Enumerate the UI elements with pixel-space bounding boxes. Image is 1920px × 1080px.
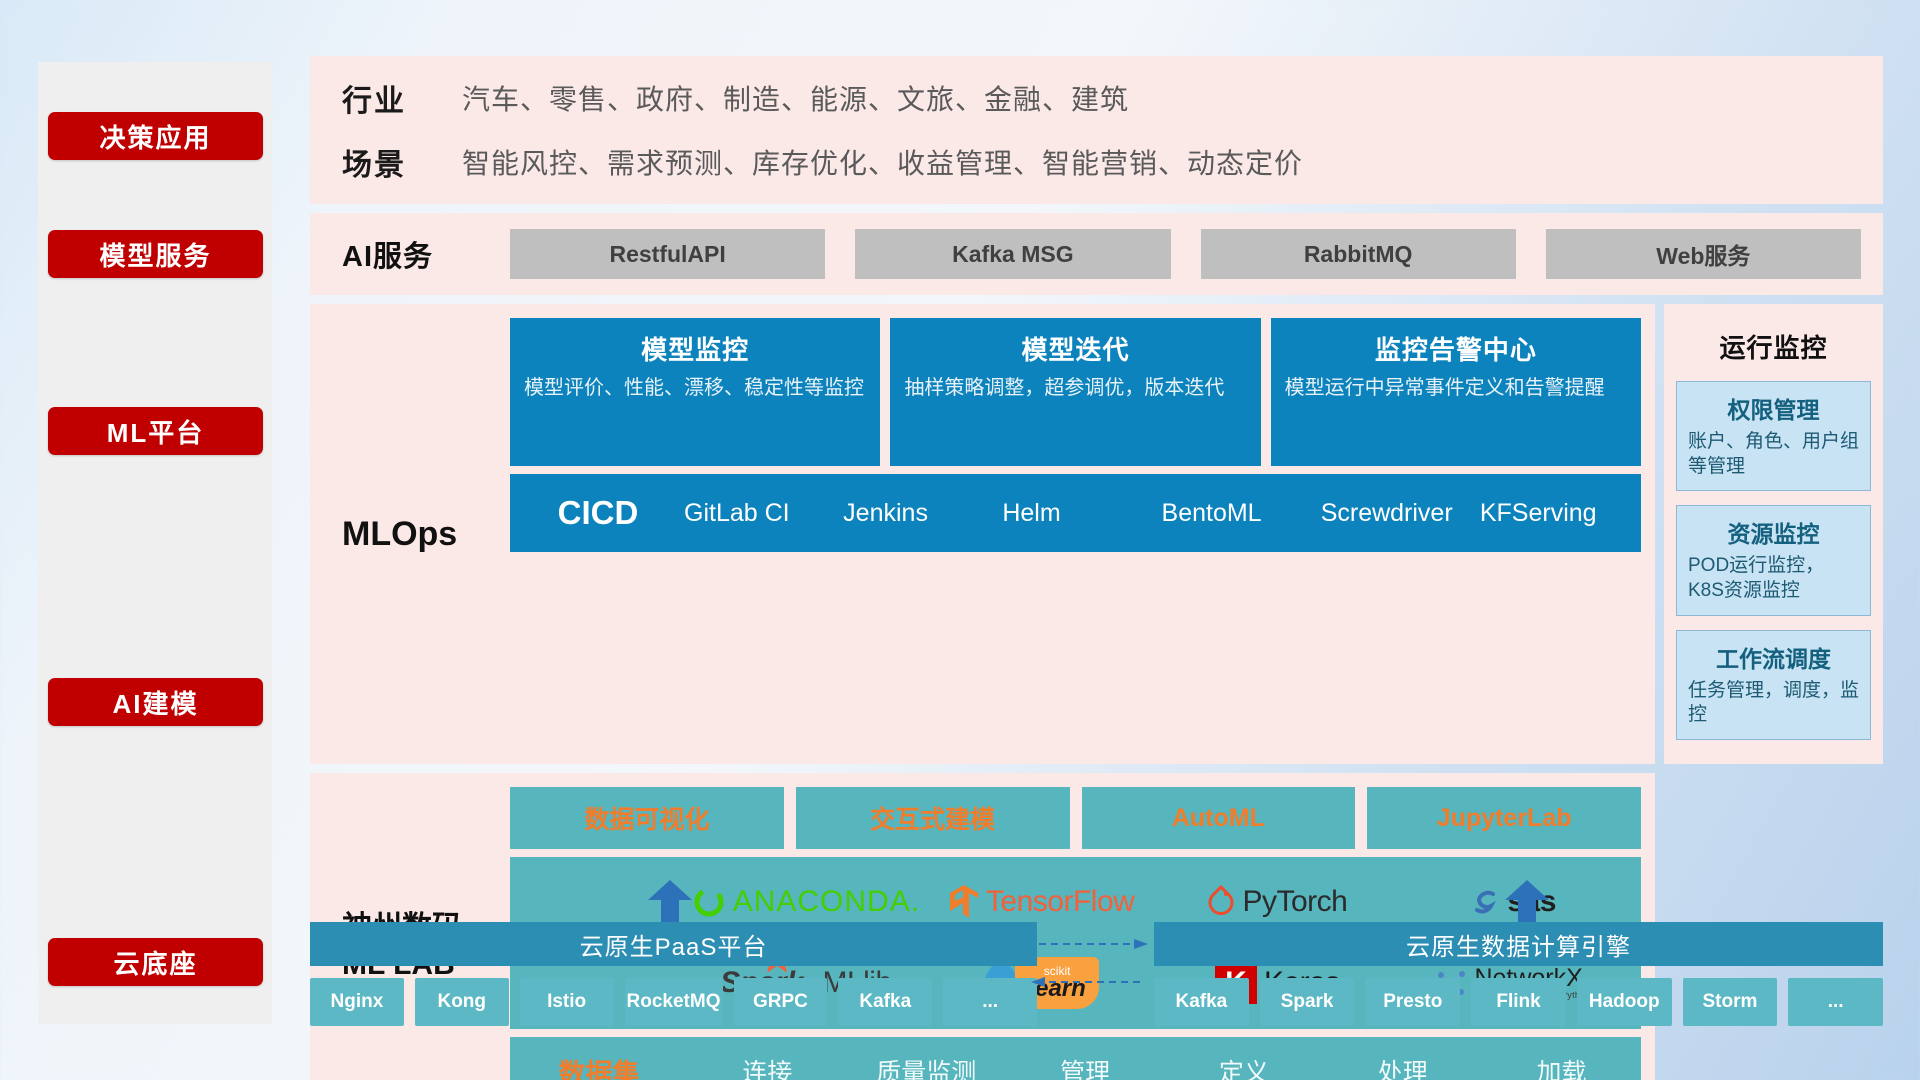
data-compute-engine-bar[interactable]: 云原生数据计算引擎 (1154, 922, 1883, 966)
industry-value: 汽车、零售、政府、制造、能源、文旅、金融、建筑 (462, 78, 1129, 118)
data-engine-chips: Kafka Spark Presto Flink Hadoop Storm ..… (1154, 978, 1883, 1026)
service-box-web[interactable]: Web服务 (1546, 229, 1861, 279)
dataset-title: 数据集 (510, 1052, 688, 1080)
chip-spark[interactable]: Spark (1260, 978, 1355, 1026)
dataset-item-process[interactable]: 处理 (1323, 1053, 1482, 1080)
industry-key: 行业 (342, 76, 462, 120)
card-title: 监控告警中心 (1285, 330, 1627, 367)
service-box-rabbitmq[interactable]: RabbitMQ (1201, 229, 1516, 279)
layer-label-ai-modeling[interactable]: AI建模 (48, 678, 263, 726)
service-box-restfulapi[interactable]: RestfulAPI (510, 229, 825, 279)
mlops-card-model-iteration[interactable]: 模型迭代 抽样策略调整，超参调优，版本迭代 (890, 318, 1260, 466)
chip-istio[interactable]: Istio (520, 978, 614, 1026)
dataset-row: 数据集 连接 质量监测 管理 定义 处理 加载 (510, 1037, 1641, 1080)
chip-storm[interactable]: Storm (1683, 978, 1778, 1026)
card-title: 权限管理 (1688, 391, 1859, 425)
upward-arrows (310, 880, 1883, 922)
scenario-key: 场景 (342, 140, 462, 184)
card-desc: 抽样策略调整，超参调优，版本迭代 (904, 375, 1246, 402)
chip-nginx[interactable]: Nginx (310, 978, 404, 1026)
cicd-item-kfserving[interactable]: KFServing (1474, 499, 1633, 528)
ml-platform-and-monitoring: MLOps 模型监控 模型评价、性能、漂移、稳定性等监控 模型迭代 抽样策略调整… (310, 304, 1883, 764)
mlops-card-model-monitoring[interactable]: 模型监控 模型评价、性能、漂移、稳定性等监控 (510, 318, 880, 466)
card-title: 模型迭代 (904, 330, 1246, 367)
paas-chips: Nginx Kong Istio RocketMQ GRPC Kafka ... (310, 978, 1037, 1026)
ai-service-section: AI服务 RestfulAPI Kafka MSG RabbitMQ Web服务 (310, 213, 1883, 295)
bidirectional-dashed-connector (1037, 978, 1154, 1026)
scenario-value: 智能风控、需求预测、库存优化、收益管理、智能营销、动态定价 (462, 142, 1303, 182)
dataset-item-manage[interactable]: 管理 (1006, 1053, 1165, 1080)
up-arrow-left-icon (648, 880, 692, 922)
chip-hadoop[interactable]: Hadoop (1577, 978, 1672, 1026)
chip-kafka-right[interactable]: Kafka (1154, 978, 1249, 1026)
chip-kafka-left[interactable]: Kafka (838, 978, 932, 1026)
layer-label-ml-platform[interactable]: ML平台 (48, 407, 263, 455)
mlops-label: MLOps (342, 318, 510, 750)
cicd-item-bentoml[interactable]: BentoML (1156, 499, 1315, 528)
mlops-card-alert-center[interactable]: 监控告警中心 模型运行中异常事件定义和告警提醒 (1271, 318, 1641, 466)
monitor-card-resource[interactable]: 资源监控 POD运行监控，K8S资源监控 (1676, 505, 1871, 615)
industry-row: 行业 汽车、零售、政府、制造、能源、文旅、金融、建筑 (342, 76, 1883, 120)
runtime-monitoring-rail: 运行监控 权限管理 账户、角色、用户组等管理 资源监控 POD运行监控，K8S资… (1664, 304, 1883, 764)
card-desc: POD运行监控，K8S资源监控 (1688, 554, 1859, 603)
card-desc: 任务管理，调度，监控 (1688, 679, 1859, 728)
card-desc: 模型评价、性能、漂移、稳定性等监控 (524, 375, 866, 402)
chip-presto[interactable]: Presto (1365, 978, 1460, 1026)
monitor-card-workflow[interactable]: 工作流调度 任务管理，调度，监控 (1676, 630, 1871, 740)
chip-grpc[interactable]: GRPC (734, 978, 828, 1026)
decision-apps-section: 行业 汽车、零售、政府、制造、能源、文旅、金融、建筑 场景 智能风控、需求预测、… (310, 56, 1883, 204)
cloud-foundation-section: 云原生PaaS平台 云原生数据计算引擎 Nginx Kong Istio Roc… (310, 880, 1883, 1026)
card-title: 模型监控 (524, 330, 866, 367)
lab-tool-jupyterlab[interactable]: JupyterLab (1367, 787, 1641, 849)
dataset-item-load[interactable]: 加载 (1482, 1053, 1641, 1080)
ai-service-label: AI服务 (342, 233, 510, 275)
chip-more-left[interactable]: ... (943, 978, 1037, 1026)
card-title: 工作流调度 (1688, 640, 1859, 674)
lab-tool-interactive-modeling[interactable]: 交互式建模 (796, 787, 1070, 849)
technology-chips: Nginx Kong Istio RocketMQ GRPC Kafka ...… (310, 978, 1883, 1026)
lab-tool-data-visualization[interactable]: 数据可视化 (510, 787, 784, 849)
cicd-item-gitlab-ci[interactable]: GitLab CI (678, 499, 837, 528)
paas-platform-bar[interactable]: 云原生PaaS平台 (310, 922, 1037, 966)
up-arrow-right-icon (1505, 880, 1549, 922)
card-desc: 模型运行中异常事件定义和告警提醒 (1285, 375, 1627, 402)
lab-tool-automl[interactable]: AutoML (1082, 787, 1356, 849)
service-box-kafka-msg[interactable]: Kafka MSG (855, 229, 1170, 279)
dataset-item-quality[interactable]: 质量监测 (847, 1053, 1006, 1080)
layer-label-decision-apps[interactable]: 决策应用 (48, 112, 263, 160)
layer-label-cloud-foundation[interactable]: 云底座 (48, 938, 263, 986)
card-desc: 账户、角色、用户组等管理 (1688, 430, 1859, 479)
dataset-item-define[interactable]: 定义 (1164, 1053, 1323, 1080)
cicd-title: CICD (518, 494, 678, 532)
dataset-item-connect[interactable]: 连接 (688, 1053, 847, 1080)
card-title: 资源监控 (1688, 515, 1859, 549)
monitor-card-permission[interactable]: 权限管理 账户、角色、用户组等管理 (1676, 381, 1871, 491)
chip-flink[interactable]: Flink (1471, 978, 1566, 1026)
cicd-item-helm[interactable]: Helm (996, 499, 1155, 528)
cicd-bar: CICD GitLab CI Jenkins Helm BentoML Scre… (510, 474, 1641, 552)
chip-more-right[interactable]: ... (1788, 978, 1883, 1026)
mlops-section: MLOps 模型监控 模型评价、性能、漂移、稳定性等监控 模型迭代 抽样策略调整… (310, 304, 1655, 764)
cicd-item-jenkins[interactable]: Jenkins (837, 499, 996, 528)
chip-kong[interactable]: Kong (415, 978, 509, 1026)
cicd-item-screwdriver[interactable]: Screwdriver (1315, 499, 1474, 528)
chip-rocketmq[interactable]: RocketMQ (625, 978, 723, 1026)
dashed-arrows-icon (1031, 930, 1148, 1000)
left-layer-rail (38, 62, 272, 1024)
layer-label-model-service[interactable]: 模型服务 (48, 230, 263, 278)
runtime-monitoring-title: 运行监控 (1676, 314, 1871, 381)
scenario-row: 场景 智能风控、需求预测、库存优化、收益管理、智能营销、动态定价 (342, 140, 1883, 184)
